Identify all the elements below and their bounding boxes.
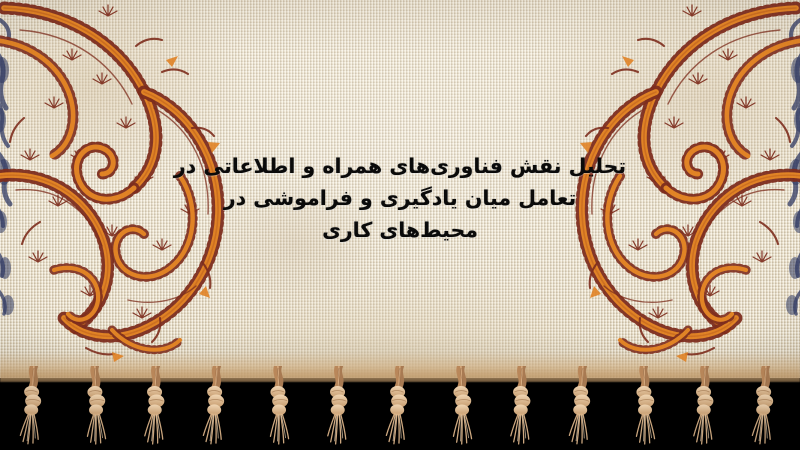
paisley-embroidery-icon-left	[0, 0, 294, 380]
tassel	[324, 366, 354, 450]
paisley-embroidery-icon-right	[506, 0, 800, 380]
tassel-fringe	[0, 366, 800, 450]
tassel	[446, 366, 476, 450]
tassel	[507, 366, 537, 450]
tassel	[751, 366, 781, 450]
tassel	[141, 366, 171, 450]
tassel	[629, 366, 659, 450]
tassel	[19, 366, 49, 450]
tassel	[263, 366, 293, 450]
slide-canvas: تحلیل نقش فناوری‌های همراه و اطلاعاتی در…	[0, 0, 800, 450]
tassel	[385, 366, 415, 450]
tassel	[80, 366, 110, 450]
tassel	[568, 366, 598, 450]
tassel	[202, 366, 232, 450]
tassel	[690, 366, 720, 450]
